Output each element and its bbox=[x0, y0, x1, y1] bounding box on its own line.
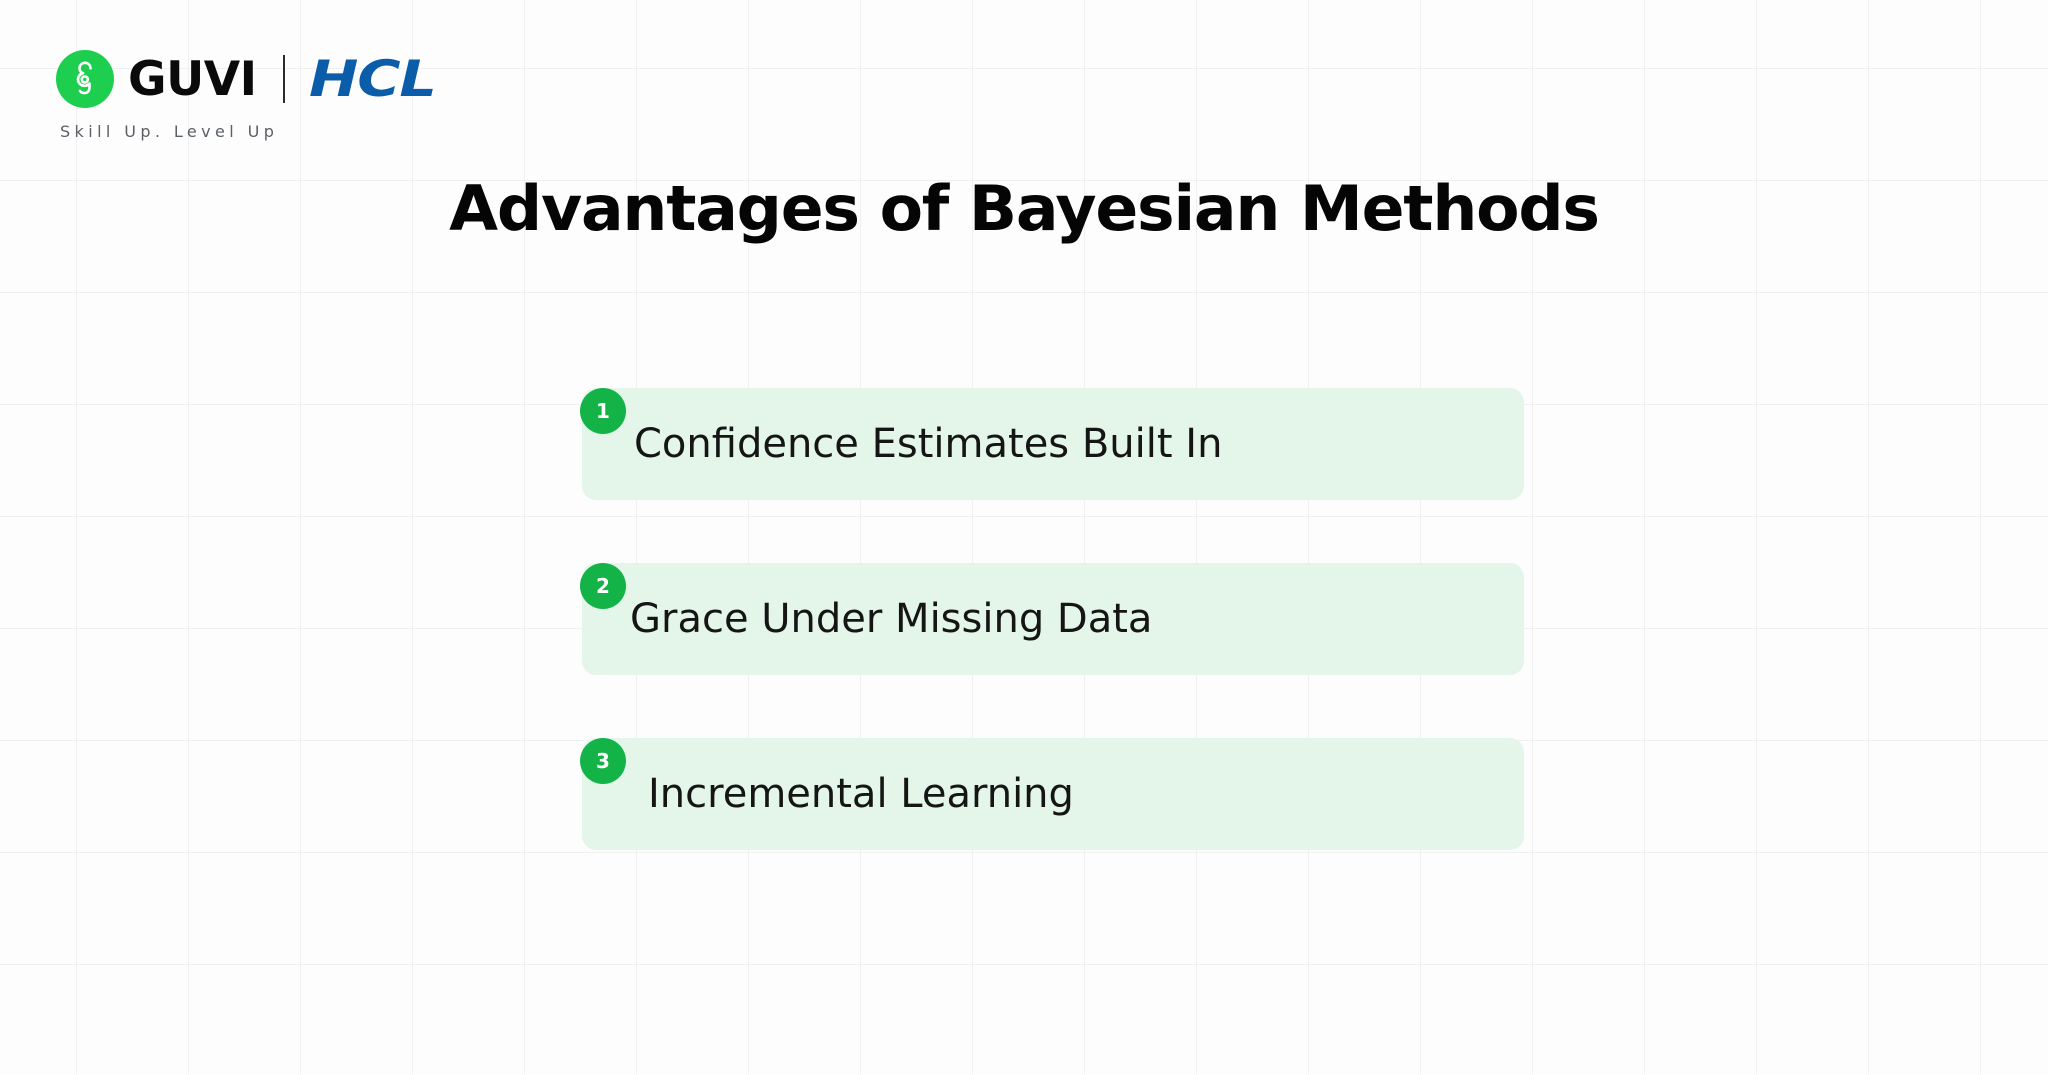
slide-title: Advantages of Bayesian Methods bbox=[0, 178, 2048, 240]
advantage-card[interactable]: Confidence Estimates Built In bbox=[582, 388, 1524, 500]
guvi-wordmark: GUVI bbox=[128, 56, 257, 103]
advantage-label: Confidence Estimates Built In bbox=[582, 424, 1222, 464]
slide-canvas: GUVI HCL Skill Up. Level Up Advantages o… bbox=[0, 0, 2048, 1075]
item-number-badge: 3 bbox=[580, 738, 626, 784]
list-item: 3 Incremental Learning bbox=[582, 738, 1542, 850]
advantage-card[interactable]: Grace Under Missing Data bbox=[582, 563, 1524, 675]
brand-divider bbox=[283, 55, 285, 103]
item-number-badge: 2 bbox=[580, 563, 626, 609]
advantage-label: Grace Under Missing Data bbox=[582, 599, 1152, 639]
item-number-badge: 1 bbox=[580, 388, 626, 434]
brand-tagline: Skill Up. Level Up bbox=[60, 122, 278, 141]
brand-logos-row: GUVI HCL bbox=[56, 48, 416, 110]
advantages-list: 1 Confidence Estimates Built In 2 Grace … bbox=[582, 360, 1542, 850]
advantage-card[interactable]: Incremental Learning bbox=[582, 738, 1524, 850]
list-item: 1 Confidence Estimates Built In bbox=[582, 388, 1542, 500]
hcl-wordmark: HCL bbox=[309, 54, 436, 104]
guvi-g-mark-icon bbox=[56, 50, 114, 108]
advantage-label: Incremental Learning bbox=[582, 774, 1074, 814]
brand-lockup: GUVI HCL Skill Up. Level Up bbox=[56, 48, 416, 141]
list-item: 2 Grace Under Missing Data bbox=[582, 563, 1542, 675]
